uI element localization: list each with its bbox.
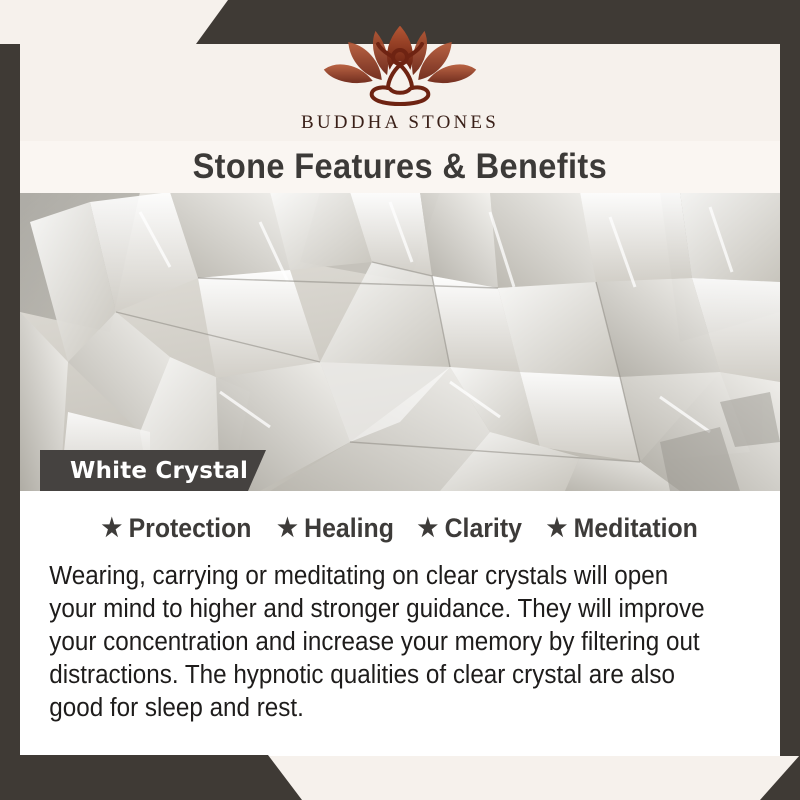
title-banner: Stone Features & Benefits <box>20 141 780 193</box>
feature-label: Healing <box>304 513 394 544</box>
star-icon: ★ <box>102 516 123 541</box>
feature-label: Protection <box>129 513 252 544</box>
feature-label: Clarity <box>445 513 522 544</box>
page-title: Stone Features & Benefits <box>193 147 607 187</box>
brand-logo: BUDDHA STONES <box>0 0 800 148</box>
brand-name: BUDDHA STONES <box>301 112 499 134</box>
content-panel: ★ Protection ★ Healing ★ Clarity ★ Medit… <box>20 491 780 756</box>
feature-item-clarity: ★ Clarity <box>418 513 522 544</box>
star-icon: ★ <box>547 516 568 541</box>
lotus-meditation-figure-icon <box>314 26 486 106</box>
feature-label: Meditation <box>574 513 698 544</box>
frame-band-left <box>0 44 20 756</box>
stone-name-tag: White Crystal <box>40 450 266 491</box>
frame-band-right <box>780 44 800 756</box>
crystal-cluster-image <box>20 192 780 491</box>
star-icon: ★ <box>277 516 298 541</box>
star-icon: ★ <box>418 516 439 541</box>
frame-corner-bottom-right <box>760 755 800 800</box>
stone-name-label: White Crystal <box>70 458 248 484</box>
features-list: ★ Protection ★ Healing ★ Clarity ★ Medit… <box>36 513 764 544</box>
poster-card: BUDDHA STONES Stone Features & Benefits <box>0 0 800 800</box>
frame-band-bottom <box>0 755 800 800</box>
feature-item-protection: ★ Protection <box>102 513 252 544</box>
feature-item-healing: ★ Healing <box>277 513 394 544</box>
description-text: Wearing, carrying or meditating on clear… <box>36 560 728 725</box>
stone-photo: White Crystal <box>20 192 780 491</box>
feature-item-meditation: ★ Meditation <box>547 513 698 544</box>
